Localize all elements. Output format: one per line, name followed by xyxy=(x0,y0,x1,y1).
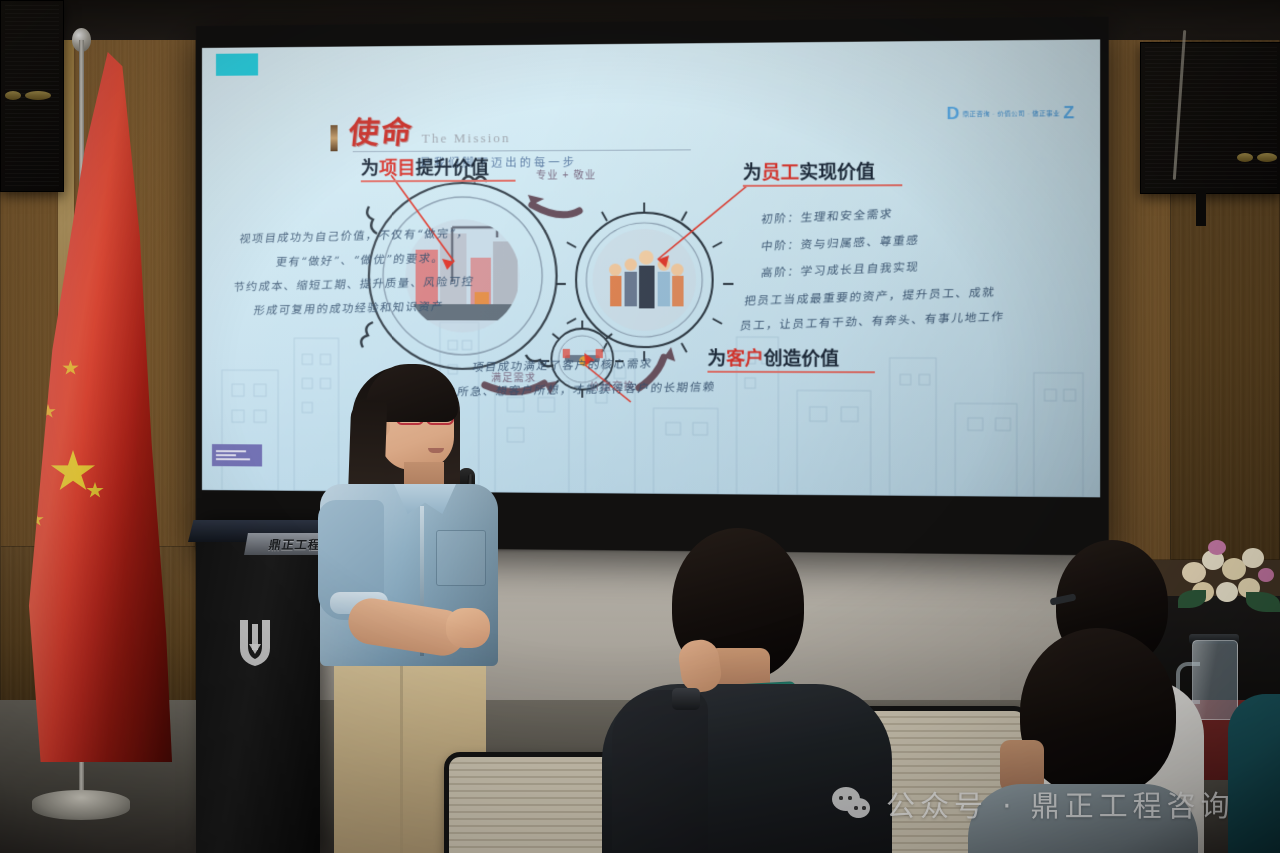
gear-label-professional: 专业 + 敬业 xyxy=(536,166,596,181)
wechat-dot xyxy=(848,796,852,800)
body-right-line-2: 中阶：资与归属感、尊重感 xyxy=(760,232,920,255)
wall-speaker-right xyxy=(1140,42,1280,194)
flower-petal xyxy=(1216,582,1238,602)
chip-line xyxy=(216,450,246,452)
chip-line xyxy=(216,458,250,460)
logo-letter-d: D xyxy=(946,104,959,122)
audience-torso-teal xyxy=(1228,694,1280,853)
heading-project: 为项目提升价值 xyxy=(361,159,489,178)
presentation-photo-scene: D 鼎正咨询 · 价值公司 · 做正事业 Z 使命 The Mission 是我… xyxy=(0,0,1280,853)
logo-wordmark: 鼎正咨询 · 价值公司 · 做正事业 xyxy=(963,108,1061,118)
logo-letter-z: Z xyxy=(1063,103,1074,121)
speaker-grill xyxy=(1145,47,1277,189)
speaker-badge xyxy=(1237,153,1253,162)
flower-petal xyxy=(1182,562,1206,583)
heading-customer-prefix: 为 xyxy=(707,348,726,368)
body-right-line-1: 初阶：生理和安全需求 xyxy=(760,205,894,227)
wechat-watermark-text: 公众号 · 鼎正工程咨询 xyxy=(886,783,1235,825)
heading-customer-suffix: 创造价值 xyxy=(764,348,839,369)
chip-line xyxy=(216,454,236,456)
dingzheng-anchor-logo xyxy=(232,614,278,670)
presenter-shirt-pocket xyxy=(436,530,486,586)
speaker-badge xyxy=(1257,153,1277,162)
presenter-hand xyxy=(446,608,490,648)
flag-base xyxy=(32,790,130,820)
heading-project-suffix: 提升价值 xyxy=(416,158,489,179)
heading-project-prefix: 为 xyxy=(361,158,379,178)
heading-customer: 为客户创造价值 xyxy=(707,349,839,368)
podium xyxy=(196,520,320,853)
speaker-mount-bracket xyxy=(1196,190,1206,226)
slide-accent-block xyxy=(216,53,258,75)
speaker-badge xyxy=(25,91,51,100)
slide-title-group: 使命 The Mission xyxy=(349,118,511,149)
presenter-mouth xyxy=(428,448,444,453)
slide-title-en: The Mission xyxy=(422,130,511,149)
projection-screen: D 鼎正咨询 · 价值公司 · 做正事业 Z 使命 The Mission 是我… xyxy=(196,17,1109,556)
heading-employee-suffix: 实现价值 xyxy=(799,162,875,183)
title-accent-bar xyxy=(331,125,338,151)
wechat-dot xyxy=(862,806,866,810)
arrow-professional xyxy=(532,205,579,215)
flower-arrangement xyxy=(1178,540,1280,612)
body-right-line-3: 高阶：学习成长且自我实现 xyxy=(760,258,920,280)
flower-leaf xyxy=(1178,590,1206,608)
slide-corporate-logo: D 鼎正咨询 · 价值公司 · 做正事业 Z xyxy=(946,104,1074,121)
speaker-badge xyxy=(5,91,21,100)
heading-employee-keyword: 员工 xyxy=(762,162,800,183)
audience-wristwatch xyxy=(672,688,700,710)
wechat-icon xyxy=(832,787,874,821)
wechat-dot xyxy=(839,796,843,800)
podium-nameplate-text: 鼎正工程 xyxy=(267,536,322,553)
wechat-bubble-small xyxy=(847,798,870,818)
slide-title-cn: 使命 xyxy=(347,119,415,150)
presenter-trouser-crease xyxy=(400,660,403,853)
flower-petal-pink xyxy=(1208,540,1226,555)
heading-project-keyword: 项目 xyxy=(379,158,416,178)
heading-customer-keyword: 客户 xyxy=(726,348,764,369)
wechat-dot xyxy=(854,806,858,810)
audience-raised-arm xyxy=(612,690,708,850)
heading-employee-prefix: 为 xyxy=(743,162,762,183)
wall-speaker-left xyxy=(0,0,64,192)
wechat-watermark: 公众号 · 鼎正工程咨询 xyxy=(832,783,1235,825)
pointer-employee xyxy=(658,186,747,260)
slide-page-chip xyxy=(212,444,262,466)
flower-petal-pink xyxy=(1258,568,1274,582)
heading-employee-underline xyxy=(743,184,902,187)
slide-surface: D 鼎正咨询 · 价值公司 · 做正事业 Z 使命 The Mission 是我… xyxy=(202,39,1100,497)
flower-petal xyxy=(1242,548,1264,568)
flower-leaf xyxy=(1246,592,1280,612)
heading-employee: 为员工实现价值 xyxy=(743,163,875,182)
